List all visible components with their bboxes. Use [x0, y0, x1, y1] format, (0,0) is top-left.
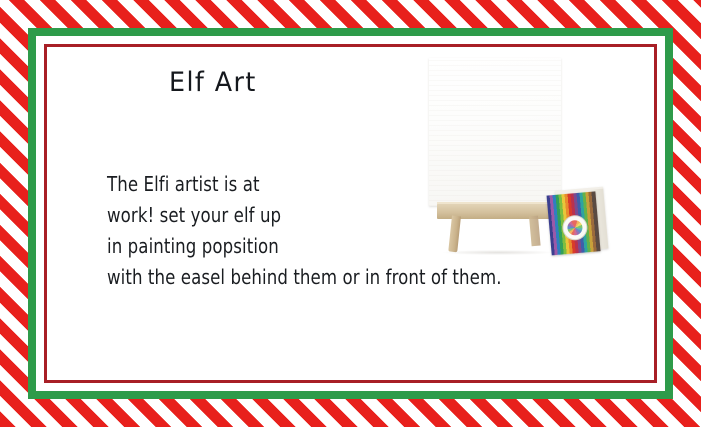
elf-art-card-page: Elf Art The Elfi artist is at work! set … [0, 0, 701, 427]
colored-pencil-pack-icon [546, 189, 608, 257]
easel-drop-shadow [443, 250, 553, 255]
card-content-area: Elf Art The Elfi artist is at work! set … [47, 47, 654, 380]
page-title: Elf Art [169, 67, 257, 98]
instruction-line: with the easel behind them or in front o… [107, 262, 593, 293]
easel-left-leg [448, 216, 461, 253]
blank-canvas-icon [429, 58, 561, 206]
easel-right-leg [529, 216, 541, 247]
easel-illustration [421, 58, 606, 263]
